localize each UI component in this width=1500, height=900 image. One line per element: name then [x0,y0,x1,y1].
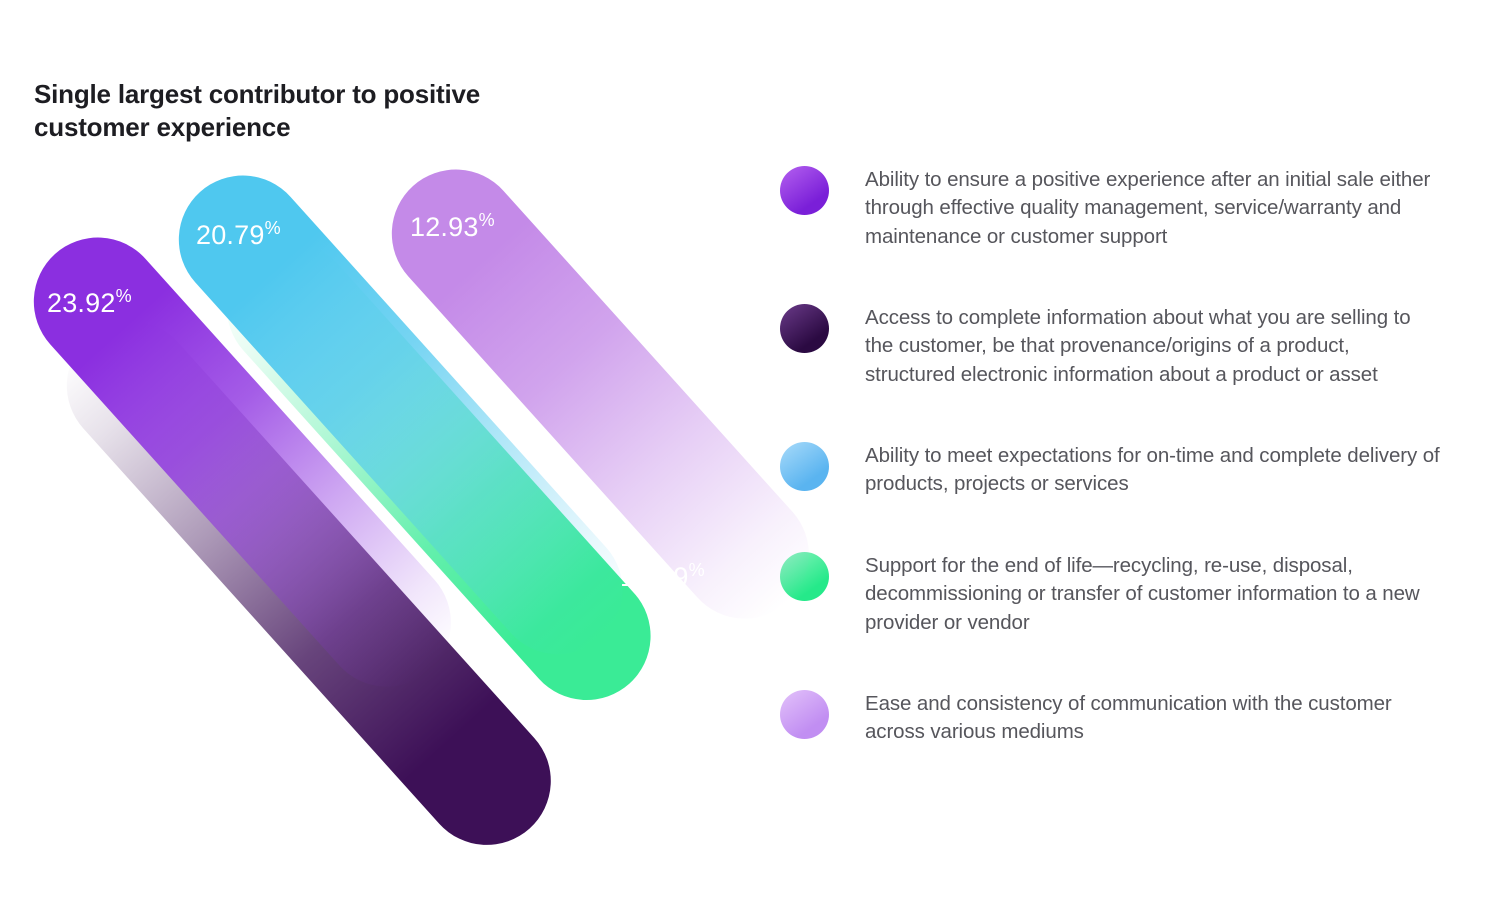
legend-item-5[interactable]: Ease and consistency of communication wi… [780,687,1440,771]
legend-item-4-label: Support for the end of life—recycling, r… [865,549,1440,637]
bar-darkpurple-value-label: 23.63% [578,738,663,771]
chart-area: 23.92%20.79%12.93%18.39%23.63% [0,140,790,860]
legend-item-3[interactable]: Ability to meet expectations for on-time… [780,439,1440,523]
bar-darkpurple-value: 23.63 [578,740,647,770]
legend-dot-blue [780,442,829,491]
legend-item-2[interactable]: Access to complete information about wha… [780,301,1440,413]
legend-dot-dark-purple [780,304,829,353]
legend-dot-lilac [780,690,829,739]
legend-item-1-label: Ability to ensure a positive experience … [865,163,1440,251]
legend-item-4[interactable]: Support for the end of life—recycling, r… [780,549,1440,661]
page-title: Single largest contributor to positive c… [34,78,594,144]
legend-dot-purple [780,166,829,215]
legend-item-5-label: Ease and consistency of communication wi… [865,687,1440,747]
legend-item-2-label: Access to complete information about wha… [865,301,1440,389]
legend-item-1[interactable]: Ability to ensure a positive experience … [780,163,1440,275]
bar-darkpurple-percent-sign: % [647,738,663,758]
bars-stage: 23.92%20.79%12.93%18.39%23.63% [0,140,790,860]
chart-legend: Ability to ensure a positive experience … [780,163,1440,797]
legend-item-3-label: Ability to meet expectations for on-time… [865,439,1440,499]
